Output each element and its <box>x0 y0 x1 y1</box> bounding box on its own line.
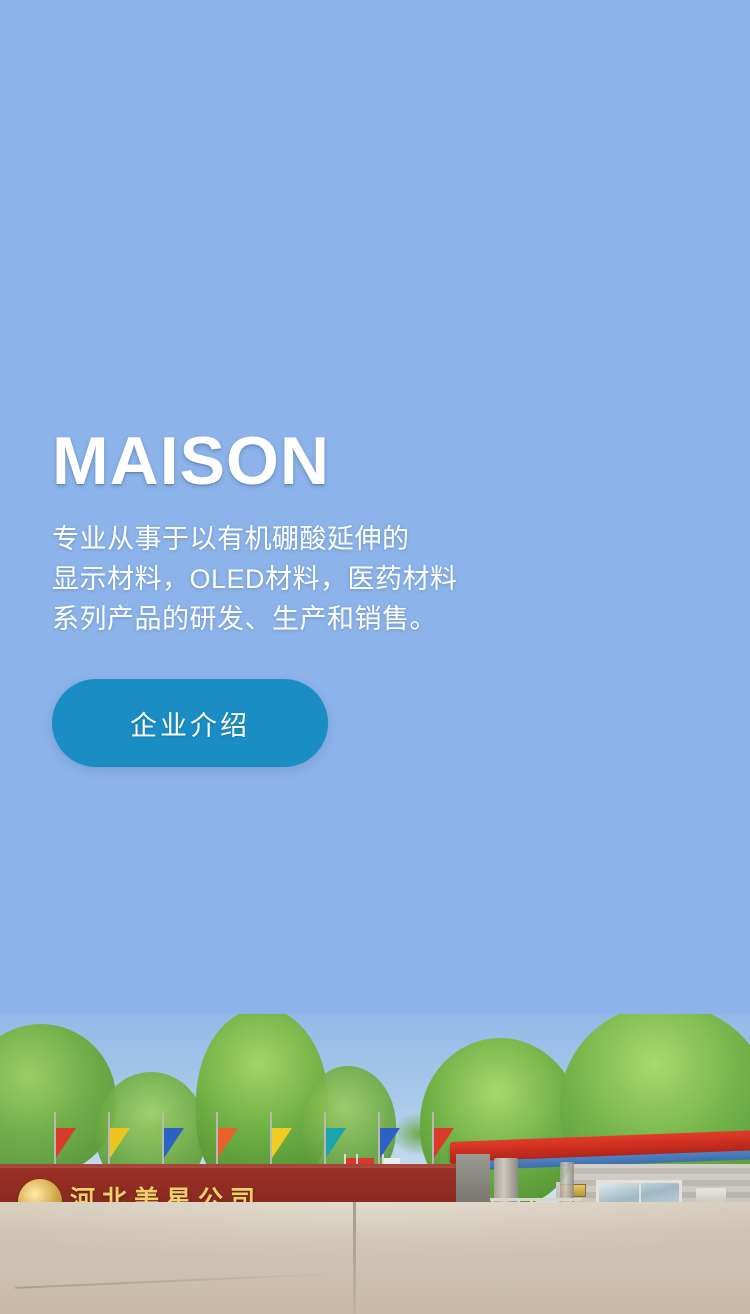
flag <box>378 1112 380 1170</box>
pavement-crack <box>15 1273 330 1289</box>
flag <box>270 1112 272 1170</box>
flag <box>432 1112 434 1170</box>
flag <box>54 1112 56 1170</box>
hero-tagline: 专业从事于以有机硼酸延伸的 显示材料，OLED材料，医药材料 系列产品的研发、生… <box>52 519 672 639</box>
company-intro-button[interactable]: 企业介绍 <box>52 679 328 767</box>
hero-copy: MAISON 专业从事于以有机硼酸延伸的 显示材料，OLED材料，医药材料 系列… <box>52 424 672 767</box>
tagline-line-2: 显示材料，OLED材料，医药材料 <box>52 559 672 599</box>
hero-banner: MAISON 专业从事于以有机硼酸延伸的 显示材料，OLED材料，医药材料 系列… <box>0 0 750 1314</box>
flag <box>108 1112 110 1170</box>
driveway <box>0 1202 750 1314</box>
tagline-line-1: 专业从事于以有机硼酸延伸的 <box>52 519 672 559</box>
tagline-line-3: 系列产品的研发、生产和销售。 <box>52 599 672 639</box>
flag <box>162 1112 164 1170</box>
flag-row <box>46 1110 466 1170</box>
page-title: MAISON <box>52 424 672 498</box>
entrance-photo: 河北美星公司 MAISON CHEMICAL <box>0 1014 750 1314</box>
flag <box>324 1112 326 1170</box>
flag <box>216 1112 218 1170</box>
